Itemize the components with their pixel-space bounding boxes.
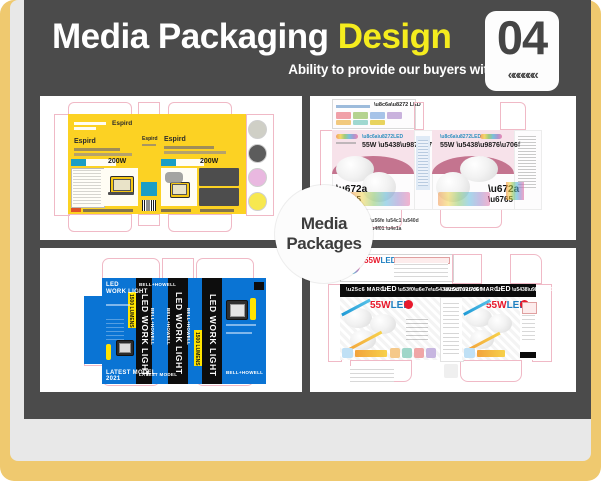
led-work-light-dieline-artwork: LED WORK LIGHT LATEST MODEL 2021 LED WOR… xyxy=(40,248,302,392)
page-title-main: Media Packaging xyxy=(52,17,338,56)
gallery-item-led-work-light-box[interactable]: LED WORK LIGHT LATEST MODEL 2021 LED WOR… xyxy=(40,248,302,392)
media-packages-badge: Media Packages xyxy=(275,185,373,283)
slide-frame: Media Packaging Design Ability to provid… xyxy=(0,0,601,481)
page-title-accent: Design xyxy=(338,17,452,56)
page-title: Media Packaging Design xyxy=(52,17,451,57)
espird-dieline-artwork: Espird Espird 200W xyxy=(40,96,302,240)
media-packages-label-line1: Media xyxy=(301,214,347,234)
chevrons-icon: «««««« xyxy=(485,67,559,82)
slide-header: Media Packaging Design Ability to provid… xyxy=(24,0,591,96)
page-subtitle: Ability to provide our buyers with xyxy=(234,62,496,77)
slide-content-panel: Media Packaging Design Ability to provid… xyxy=(24,0,591,419)
gallery-item-espird-work-light[interactable]: Espird Espird 200W xyxy=(40,96,302,240)
section-number-badge: 04 «««««« xyxy=(485,11,559,91)
section-number: 04 xyxy=(485,9,559,67)
media-packages-label-line2: Packages xyxy=(286,234,361,254)
slide-canvas: Media Packaging Design Ability to provid… xyxy=(10,0,591,461)
